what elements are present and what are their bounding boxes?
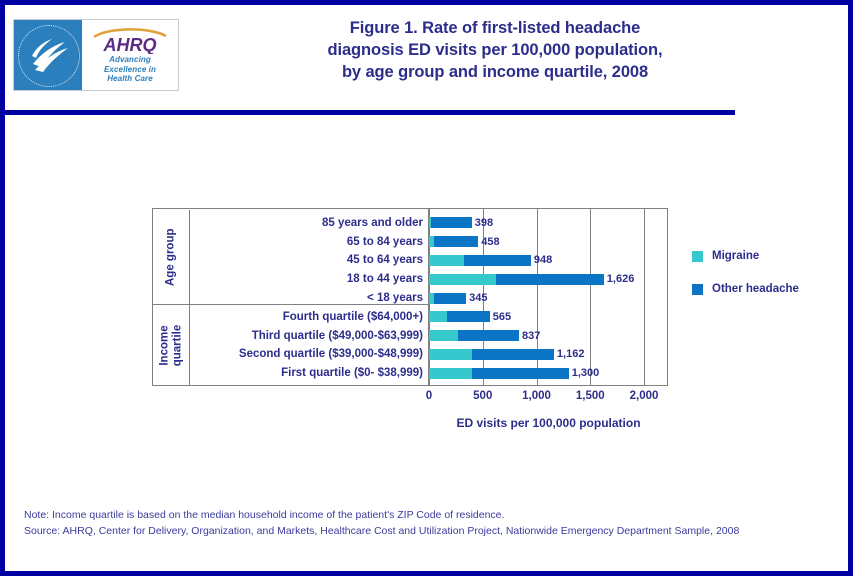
bar-segment-other-headache xyxy=(472,368,569,379)
figure-title: Figure 1. Rate of first-listed headache … xyxy=(195,17,795,83)
bar-segment-migraine xyxy=(429,255,464,266)
bar-segment-migraine xyxy=(429,349,472,360)
x-axis-tick-label: 2,000 xyxy=(630,390,659,402)
x-axis-ticks: 05001,0001,5002,000 xyxy=(429,390,668,406)
bar-row: 1,162 xyxy=(429,345,584,364)
figure-title-line-2: diagnosis ED visits per 100,000 populati… xyxy=(195,39,795,61)
category-labels: 85 years and older65 to 84 years45 to 64… xyxy=(191,209,427,387)
group-label-age-group-text: Age group xyxy=(165,228,178,286)
figure-title-line-1: Figure 1. Rate of first-listed headache xyxy=(195,17,795,39)
bar-value-label: 345 xyxy=(469,292,487,304)
bar-value-label: 458 xyxy=(481,236,499,248)
footnote-note: Note: Income quartile is based on the me… xyxy=(24,508,814,524)
category-label: First quartile ($0- $38,999) xyxy=(281,364,423,383)
bar-value-label: 1,300 xyxy=(572,367,600,379)
group-label-divider xyxy=(189,210,190,386)
category-label: Second quartile ($39,000-$48,999) xyxy=(239,345,423,364)
hhs-seal-icon xyxy=(14,20,82,90)
ahrq-tagline-3: Health Care xyxy=(107,74,153,84)
bar-row: 837 xyxy=(429,326,540,345)
header-divider-rule xyxy=(5,110,735,115)
bar-segment-other-headache xyxy=(496,274,604,285)
bar-segment-other-headache xyxy=(434,293,466,304)
bar-segment-other-headache xyxy=(431,217,472,228)
bar-segment-migraine xyxy=(429,330,458,341)
bar-segment-other-headache xyxy=(458,330,519,341)
category-label: Fourth quartile ($64,000+) xyxy=(283,308,423,327)
bar-segment-other-headache xyxy=(447,311,489,322)
category-label-frame: Age group Incomequartile 85 years and ol… xyxy=(152,208,429,386)
ahrq-tagline-1: Advancing xyxy=(109,55,151,65)
bar-row: 345 xyxy=(429,289,487,308)
bar-segment-migraine xyxy=(429,311,447,322)
hhs-eagle-icon xyxy=(27,34,73,76)
legend-label: Other headache xyxy=(712,283,799,295)
group-label-income-quartile: Incomequartile xyxy=(154,305,188,386)
bar-value-label: 1,162 xyxy=(557,348,585,360)
legend-label: Migraine xyxy=(712,250,759,262)
bar-row: 458 xyxy=(429,232,500,251)
ahrq-tagline-2: Excellence in xyxy=(104,65,156,75)
ahrq-wordmark: AHRQ Advancing Excellence in Health Care xyxy=(82,20,178,90)
bar-value-label: 398 xyxy=(475,217,493,229)
bar-row: 565 xyxy=(429,308,511,327)
category-label: 65 to 84 years xyxy=(347,232,423,251)
category-label: < 18 years xyxy=(367,289,423,308)
bar-row: 1,626 xyxy=(429,270,634,289)
category-label: 45 to 64 years xyxy=(347,251,423,270)
gridline xyxy=(590,209,591,385)
bars-plot: 3984589481,6263455658371,1621,300 xyxy=(429,208,668,386)
x-axis-title: ED visits per 100,000 population xyxy=(429,416,668,430)
bar-segment-other-headache xyxy=(472,349,554,360)
category-label: Third quartile ($49,000-$63,999) xyxy=(252,326,423,345)
bar-value-label: 1,626 xyxy=(607,273,635,285)
legend-item[interactable]: Other headache xyxy=(692,283,842,295)
footnote-source: Source: AHRQ, Center for Delivery, Organ… xyxy=(24,524,814,540)
group-label-income-quartile-text: Incomequartile xyxy=(159,325,184,367)
legend-swatch-icon xyxy=(692,284,703,295)
chart-legend: MigraineOther headache xyxy=(692,250,842,316)
chart-container: Age group Incomequartile 85 years and ol… xyxy=(0,196,853,446)
bar-segment-migraine xyxy=(429,274,496,285)
bar-segment-other-headache xyxy=(464,255,530,266)
bar-segment-migraine xyxy=(429,368,472,379)
x-axis-tick-label: 1,000 xyxy=(522,390,551,402)
legend-item[interactable]: Migraine xyxy=(692,250,842,262)
page-header: AHRQ Advancing Excellence in Health Care… xyxy=(5,5,848,110)
category-label: 18 to 44 years xyxy=(347,270,423,289)
category-label: 85 years and older xyxy=(322,214,423,233)
chart-plot-area: Age group Incomequartile 85 years and ol… xyxy=(152,208,668,386)
group-label-age-group: Age group xyxy=(154,210,188,304)
bar-segment-other-headache xyxy=(434,236,478,247)
bar-row: 948 xyxy=(429,251,552,270)
legend-swatch-icon xyxy=(692,251,703,262)
x-axis-tick-label: 0 xyxy=(426,390,432,402)
figure-footnotes: Note: Income quartile is based on the me… xyxy=(24,508,814,539)
svg-text:AHRQ: AHRQ xyxy=(103,35,157,54)
ahrq-logo: AHRQ Advancing Excellence in Health Care xyxy=(13,19,179,91)
x-axis-tick-label: 500 xyxy=(473,390,492,402)
x-axis-tick-label: 1,500 xyxy=(576,390,605,402)
bar-value-label: 837 xyxy=(522,330,540,342)
bar-row: 398 xyxy=(429,214,493,233)
bar-row: 1,300 xyxy=(429,364,599,383)
figure-title-line-3: by age group and income quartile, 2008 xyxy=(195,61,795,83)
bar-value-label: 948 xyxy=(534,254,552,266)
gridline xyxy=(644,209,645,385)
bar-value-label: 565 xyxy=(493,311,511,323)
